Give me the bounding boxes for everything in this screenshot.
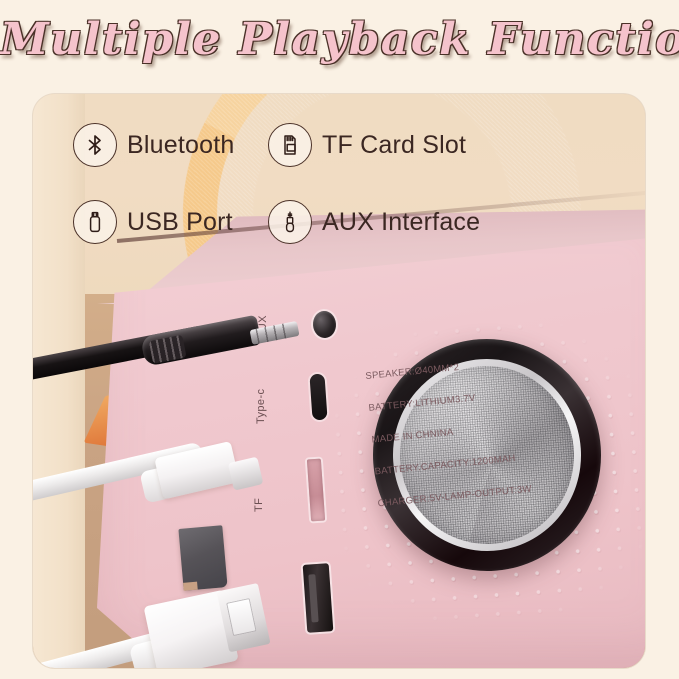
- typec-port[interactable]: [309, 374, 327, 421]
- feature-usb-port-label: USB Port: [127, 208, 233, 237]
- tf-port-label: TF: [253, 498, 265, 512]
- feature-bluetooth-label: Bluetooth: [127, 131, 234, 160]
- photo-panel: AUX Type-c TF USB Speaker:Ø40mm*2 Batter…: [33, 94, 645, 668]
- typec-port-label: Type-c: [255, 389, 267, 424]
- feature-aux-interface: AUX Interface: [268, 200, 480, 244]
- feature-usb-port: USB Port: [73, 200, 233, 244]
- spec-line: Battery.Capacity:1200mAh: [374, 452, 529, 478]
- feature-aux-interface-label: AUX Interface: [322, 208, 480, 237]
- page-title: Multiple Playback Functions: [0, 14, 679, 65]
- usb-port[interactable]: [303, 563, 334, 633]
- spec-text-block: Speaker:Ø40mm*2 Battery:Lithium3.7V Made…: [365, 356, 534, 530]
- spec-line: Battery:Lithium3.7V: [368, 388, 523, 414]
- spec-line: Charger:5V-lamp-Output:3W: [377, 484, 532, 510]
- feature-tf-card-label: TF Card Slot: [322, 131, 466, 160]
- feature-tf-card: TF Card Slot: [268, 123, 466, 167]
- feature-bluetooth: Bluetooth: [73, 123, 234, 167]
- aux-jack-icon: [268, 200, 312, 244]
- spec-line: Made in Chnina: [371, 420, 526, 446]
- bluetooth-icon: [73, 123, 117, 167]
- usb-icon: [73, 200, 117, 244]
- product-feature-image: Multiple Playback Functions: [0, 0, 679, 679]
- microsd-card: [178, 525, 227, 591]
- background-left-strip: [33, 94, 85, 668]
- tf-card-icon: [268, 123, 312, 167]
